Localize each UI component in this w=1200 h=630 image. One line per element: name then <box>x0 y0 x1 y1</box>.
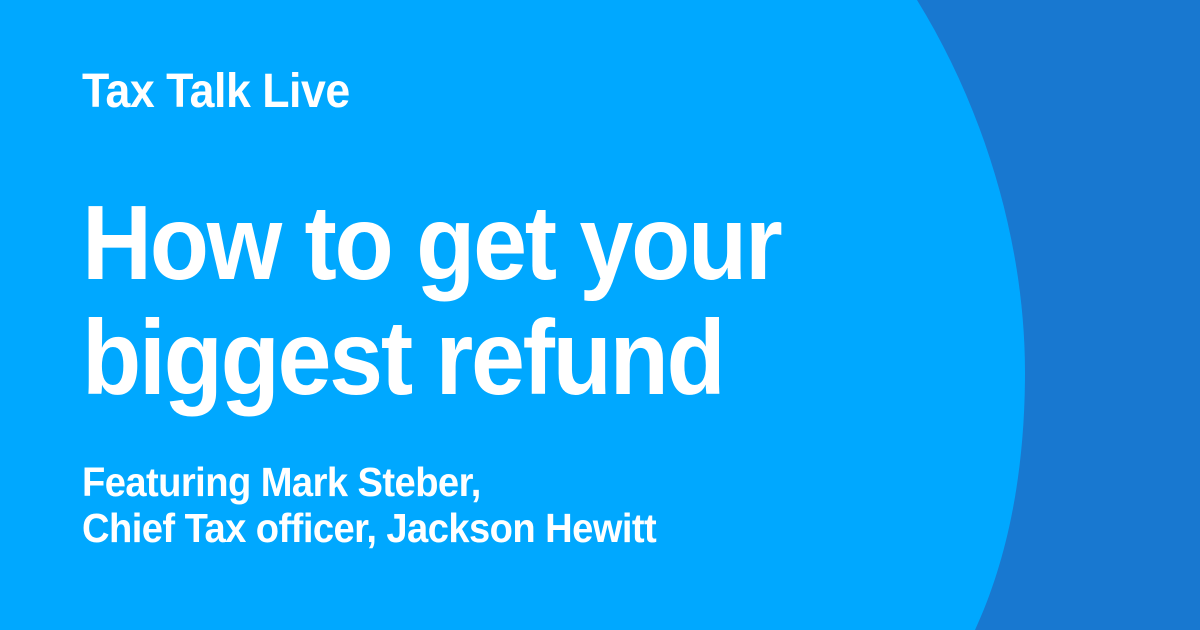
promo-banner: Tax Talk Live How to get your biggest re… <box>0 0 1200 630</box>
subtitle-line-2: Chief Tax officer, Jackson Hewitt <box>82 505 656 551</box>
headline-line-2: biggest refund <box>82 301 780 416</box>
subtitle-line-1: Featuring Mark Steber, <box>82 459 656 505</box>
banner-content: Tax Talk Live How to get your biggest re… <box>82 0 982 630</box>
banner-headline: How to get your biggest refund <box>82 186 780 416</box>
banner-kicker: Tax Talk Live <box>82 68 350 116</box>
banner-subtitle: Featuring Mark Steber, Chief Tax officer… <box>82 459 656 551</box>
headline-line-1: How to get your <box>82 186 780 301</box>
